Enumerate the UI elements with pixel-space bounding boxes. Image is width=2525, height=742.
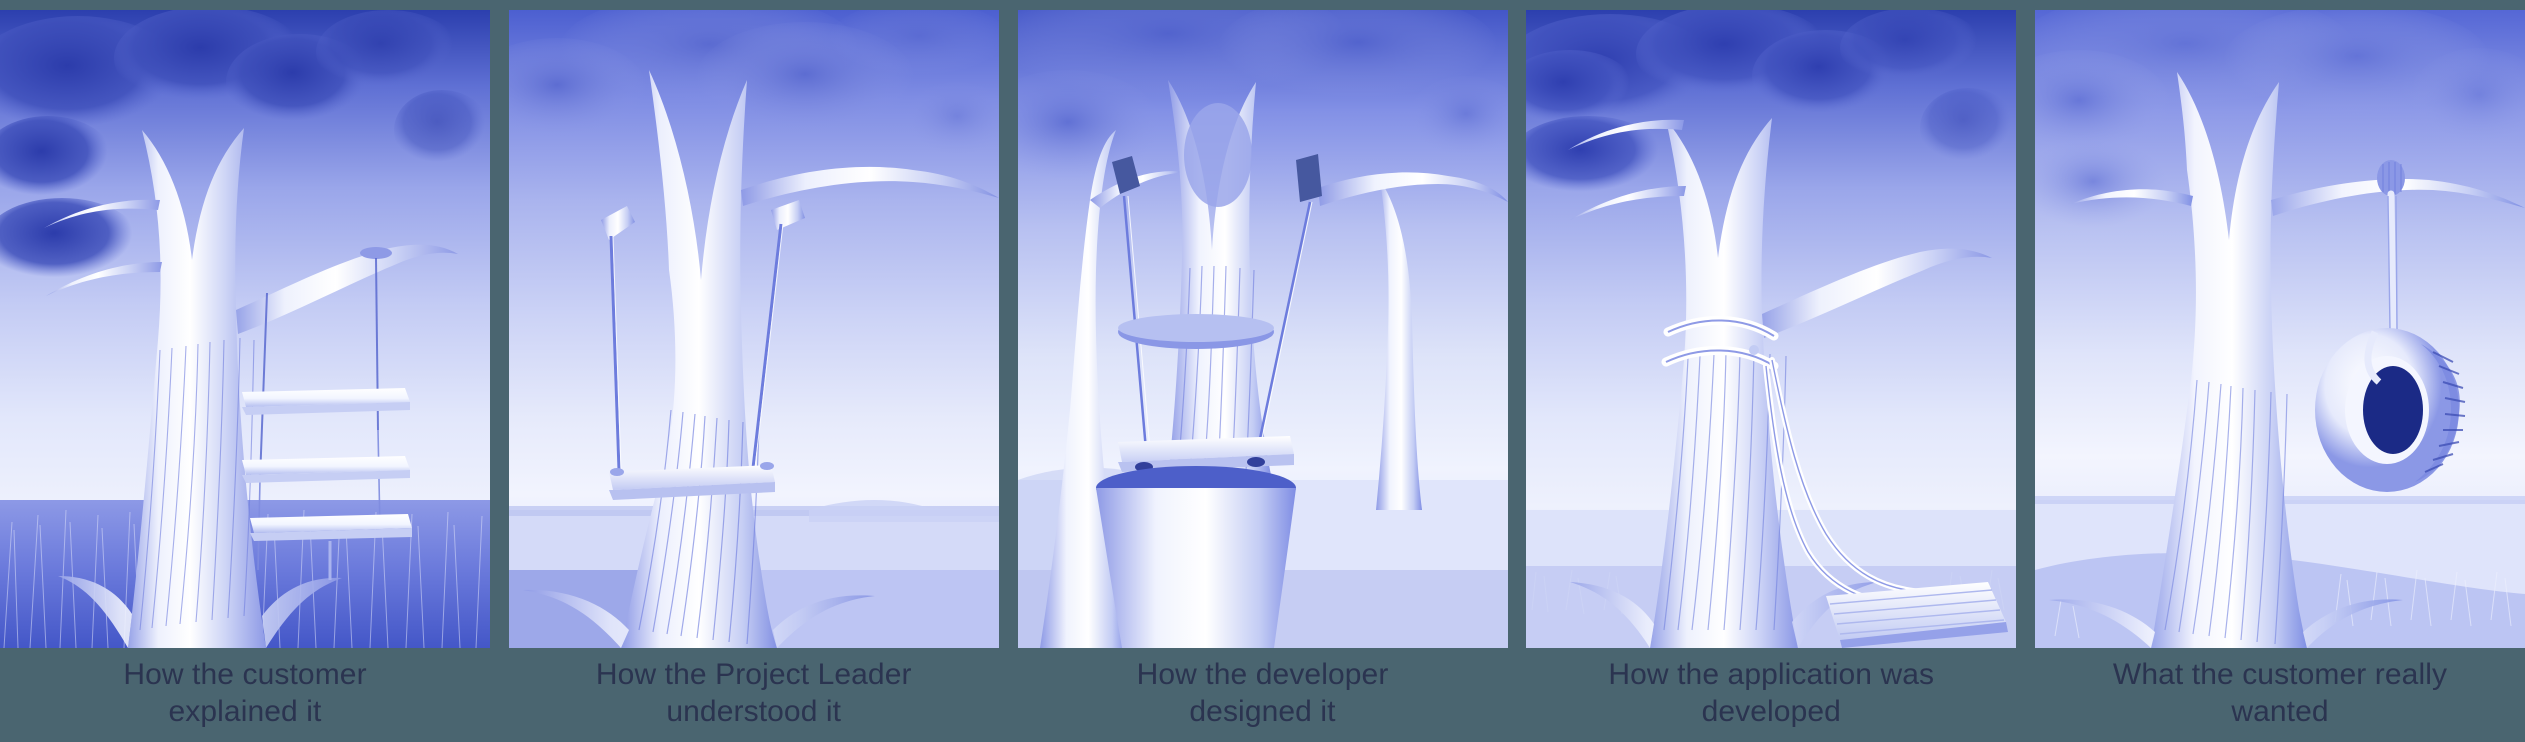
rope-knot <box>1749 345 1759 355</box>
cartoon-strip: How the customer explained it <box>0 0 2525 742</box>
rope-right <box>753 224 781 468</box>
panel-4: How the application was developed <box>1526 0 2016 742</box>
scene-rope-tied-round-trunk-board-on-ground <box>1526 10 2016 648</box>
branch-stub-right <box>771 200 805 230</box>
strap-right <box>1296 154 1322 202</box>
panel-2: How the Project Leader understood it <box>509 0 999 742</box>
panel-2-image <box>509 10 999 648</box>
scene-simple-tire-swing <box>2035 10 2525 648</box>
panel-3-caption: How the developer designed it <box>1018 657 1508 730</box>
tree-trunk <box>621 70 777 648</box>
panel-1-caption: How the customer explained it <box>0 657 490 730</box>
tree-right <box>1376 180 1422 510</box>
branch-stub-left <box>601 206 635 240</box>
panel-5-image <box>2035 10 2525 648</box>
tree-trunk <box>2151 72 2307 648</box>
board-bottom <box>250 514 412 541</box>
scene-tree-with-three-stacked-swing-boards <box>0 10 490 648</box>
tire <box>2315 328 2465 492</box>
foliage <box>1526 10 2016 200</box>
foliage <box>1018 10 1508 186</box>
board-middle <box>242 456 410 483</box>
branch-right <box>1762 249 1992 338</box>
panel-4-caption: How the application was developed <box>1526 657 2016 730</box>
scene-swing-seat-against-trunk <box>509 10 999 648</box>
foliage <box>0 10 490 286</box>
branch-right <box>236 245 458 334</box>
panel-5-caption: What the customer really wanted <box>2035 657 2525 730</box>
rope-knot <box>360 247 392 259</box>
branch-right <box>741 167 999 206</box>
stump-body <box>1096 488 1296 648</box>
rope-left <box>611 236 619 470</box>
foliage <box>509 10 999 158</box>
branch-right-arm <box>1318 172 1508 206</box>
trunk-hollow <box>1184 103 1252 207</box>
scene-swing-over-stump-with-extra-disc <box>1018 10 1508 648</box>
rope <box>2391 194 2393 332</box>
panel-5: What the customer really wanted <box>2035 0 2525 742</box>
panel-2-caption: How the Project Leader understood it <box>509 657 999 730</box>
far-hill <box>809 500 999 522</box>
board-top <box>242 388 410 415</box>
panel-3-image <box>1018 10 1508 648</box>
panel-4-image <box>1526 10 2016 648</box>
panel-1-image <box>0 10 490 648</box>
panel-1: How the customer explained it <box>0 0 490 742</box>
panel-3: How the developer designed it <box>1018 0 1508 742</box>
